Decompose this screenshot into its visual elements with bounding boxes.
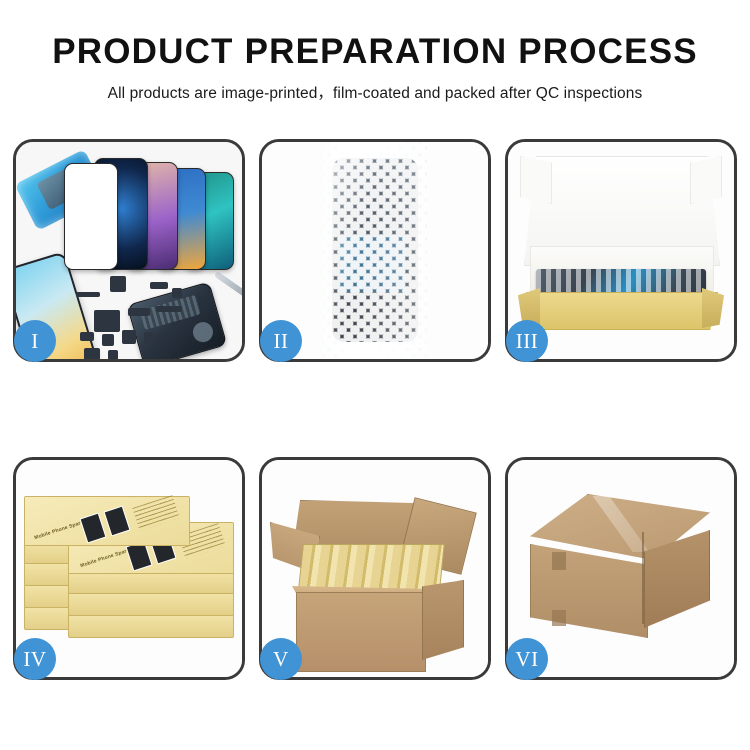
carton-hand-hole [552, 610, 566, 626]
phone-white [64, 163, 118, 270]
step-badge-1: I [14, 320, 56, 362]
part-connector-grid [94, 310, 120, 332]
step-panel-6: VI [505, 457, 737, 680]
retail-box-layer [68, 592, 234, 616]
part-speaker [122, 330, 136, 344]
process-steps-grid: I II III [13, 139, 737, 680]
step-panel-1: I [13, 139, 245, 362]
part-camera-module [102, 334, 114, 346]
spare-parts-cluster [76, 274, 196, 359]
mailer-flap-left [520, 156, 552, 204]
carton-edge-seam [642, 532, 644, 624]
sealed-carton-front [530, 544, 648, 638]
step-panel-2: II [259, 139, 491, 362]
part-earpiece [76, 292, 100, 297]
infographic-page: PRODUCT PREPARATION PROCESS All products… [0, 0, 750, 750]
part-gold-strip [156, 306, 182, 312]
carton-front-face [296, 592, 426, 672]
retail-box-top-left: Mobile Phone Spare Parts [24, 496, 190, 546]
step-badge-2: II [260, 320, 302, 362]
carton-side-face [422, 580, 464, 660]
phone-lineup [64, 150, 239, 270]
mailer-flap-right [690, 156, 722, 204]
page-header: PRODUCT PREPARATION PROCESS All products… [0, 0, 750, 103]
packed-product [536, 269, 706, 295]
step-panel-4: Mobile Phone Spare Parts Mobile Phone Sp… [13, 457, 245, 680]
step-panel-3: III [505, 139, 737, 362]
part-flex-cable [128, 308, 150, 316]
page-subtitle: All products are image-printed，film-coat… [0, 81, 750, 103]
step-panel-5: V [259, 457, 491, 680]
step-badge-3: III [506, 320, 548, 362]
plastic-sheen [323, 142, 427, 359]
retail-box-stack: Mobile Phone Spare Parts Mobile Phone Sp… [24, 478, 234, 660]
page-title: PRODUCT PREPARATION PROCESS [0, 34, 750, 71]
part-copper-coil [110, 276, 126, 292]
part-bracket [84, 348, 100, 359]
step-badge-4: IV [14, 638, 56, 680]
mailer-side-right [702, 288, 724, 328]
part-gold-flex [150, 282, 168, 289]
mailer-front-wall [526, 292, 718, 330]
part-button [172, 288, 182, 298]
part-sim-tray [144, 332, 153, 344]
part-chip [80, 332, 94, 341]
step-badge-5: V [260, 638, 302, 680]
retail-box-layer [68, 614, 234, 638]
step-badge-6: VI [506, 638, 548, 680]
part-screw [108, 350, 118, 359]
carton-hand-hole [552, 552, 566, 570]
tweezers-tool [214, 271, 242, 299]
